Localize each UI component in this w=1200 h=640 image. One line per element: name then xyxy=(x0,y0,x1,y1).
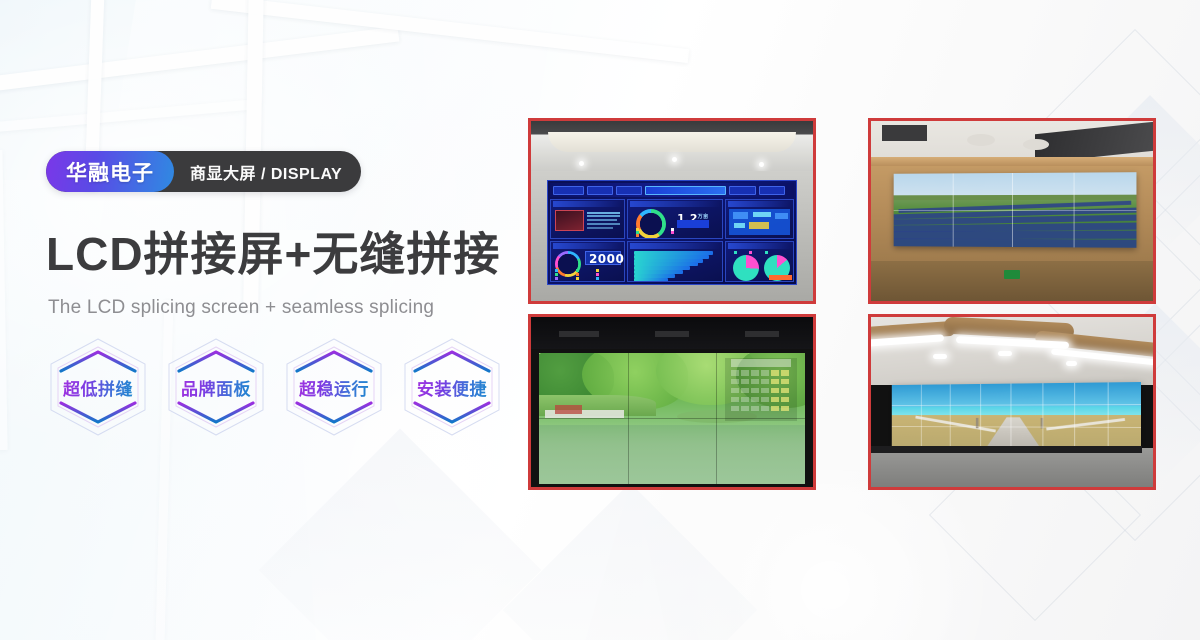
dashboard-tag xyxy=(616,186,642,195)
ceiling-fixture xyxy=(745,331,779,338)
calendar-header xyxy=(731,359,791,367)
exit-sign xyxy=(1004,270,1020,279)
feature-label: 安装便捷 xyxy=(417,375,487,400)
ceiling-light xyxy=(672,157,677,162)
dashboard-panel-flow xyxy=(725,199,795,239)
dashboard-counter-value: 2000 xyxy=(589,252,624,266)
screen-sea xyxy=(892,406,1142,415)
dashboard-row: 2000 xyxy=(550,241,795,281)
screen-water xyxy=(539,425,804,484)
ceiling-cove xyxy=(548,132,796,152)
wood-trim xyxy=(871,157,1153,166)
screen-horizon xyxy=(893,195,1135,200)
screen-sky xyxy=(892,382,1142,407)
screen-stand xyxy=(871,446,1142,453)
brand-pill[interactable]: 华融电子 商显大屏 / DISPLAY xyxy=(46,151,361,192)
ceiling-fixture xyxy=(559,331,598,338)
dashboard-screen: 1.2 万亩 xyxy=(547,180,798,284)
photo-solar-farm-video-wall[interactable] xyxy=(868,118,1156,304)
video-wall-screen xyxy=(893,172,1135,247)
hero-content: 华融电子 商显大屏 / DISPLAY LCD拼接屏+无缝拼接 The LCD … xyxy=(46,0,546,640)
ceiling-light xyxy=(579,161,584,166)
feature-list: 超低拼缝 品牌面板 超稳运行 xyxy=(46,333,504,441)
dashboard-body: 1.2 万亩 xyxy=(550,199,795,282)
ceiling-fixture xyxy=(655,331,689,338)
feature-badge-3[interactable]: 超稳运行 xyxy=(282,333,386,441)
dashboard-panel-ranking xyxy=(627,241,723,281)
brand-category: 商显大屏 / DISPLAY xyxy=(174,151,361,192)
feature-label: 超稳运行 xyxy=(299,375,369,400)
calendar-overlay xyxy=(725,358,797,421)
dashboard-tag xyxy=(553,186,584,195)
ceiling-downlight xyxy=(933,354,947,359)
dashboard-tag xyxy=(759,186,785,195)
ceiling-speaker xyxy=(967,134,995,147)
feature-badge-4[interactable]: 安装便捷 xyxy=(400,333,504,441)
photo-willow-lake-video-wall[interactable] xyxy=(528,314,816,490)
feature-badge-1[interactable]: 超低拼缝 xyxy=(46,333,150,441)
feature-label: 品牌面板 xyxy=(181,375,251,400)
dashboard-panel-metric: 1.2 万亩 xyxy=(627,199,723,239)
feature-label: 超低拼缝 xyxy=(63,375,133,400)
dashboard-panel-counter: 2000 xyxy=(550,241,626,281)
dashboard-tag xyxy=(729,186,755,195)
dashboard-metric-unit: 万亩 xyxy=(698,213,709,220)
ceiling-vent xyxy=(882,125,927,141)
floor xyxy=(871,448,1153,487)
photo-beach-boardwalk-video-wall[interactable] xyxy=(868,314,1156,490)
ceiling-downlight xyxy=(998,351,1012,356)
page-subtitle: The LCD splicing screen + seamless splic… xyxy=(48,297,434,319)
dashboard-row: 1.2 万亩 xyxy=(550,199,795,239)
ceiling-speaker xyxy=(1023,139,1048,150)
photo-control-room-dashboard[interactable]: 1.2 万亩 xyxy=(528,118,816,304)
dashboard-tag xyxy=(587,186,613,195)
page-title: LCD拼接屏+无缝拼接 xyxy=(46,231,500,277)
screen-sky xyxy=(893,172,1135,197)
ceiling-downlight xyxy=(1066,361,1077,365)
dashboard-panel-intro xyxy=(550,199,626,239)
video-wall-screen xyxy=(539,353,804,484)
brand-name: 华融电子 xyxy=(46,151,174,192)
product-photo-grid: 1.2 万亩 xyxy=(528,118,1160,490)
feature-badge-2[interactable]: 品牌面板 xyxy=(164,333,268,441)
wall-base xyxy=(871,261,1153,301)
dashboard-title-tag xyxy=(645,186,726,195)
video-wall-screen xyxy=(892,382,1142,450)
dashboard-panel-pies xyxy=(725,241,795,281)
dashboard-header xyxy=(550,183,795,197)
